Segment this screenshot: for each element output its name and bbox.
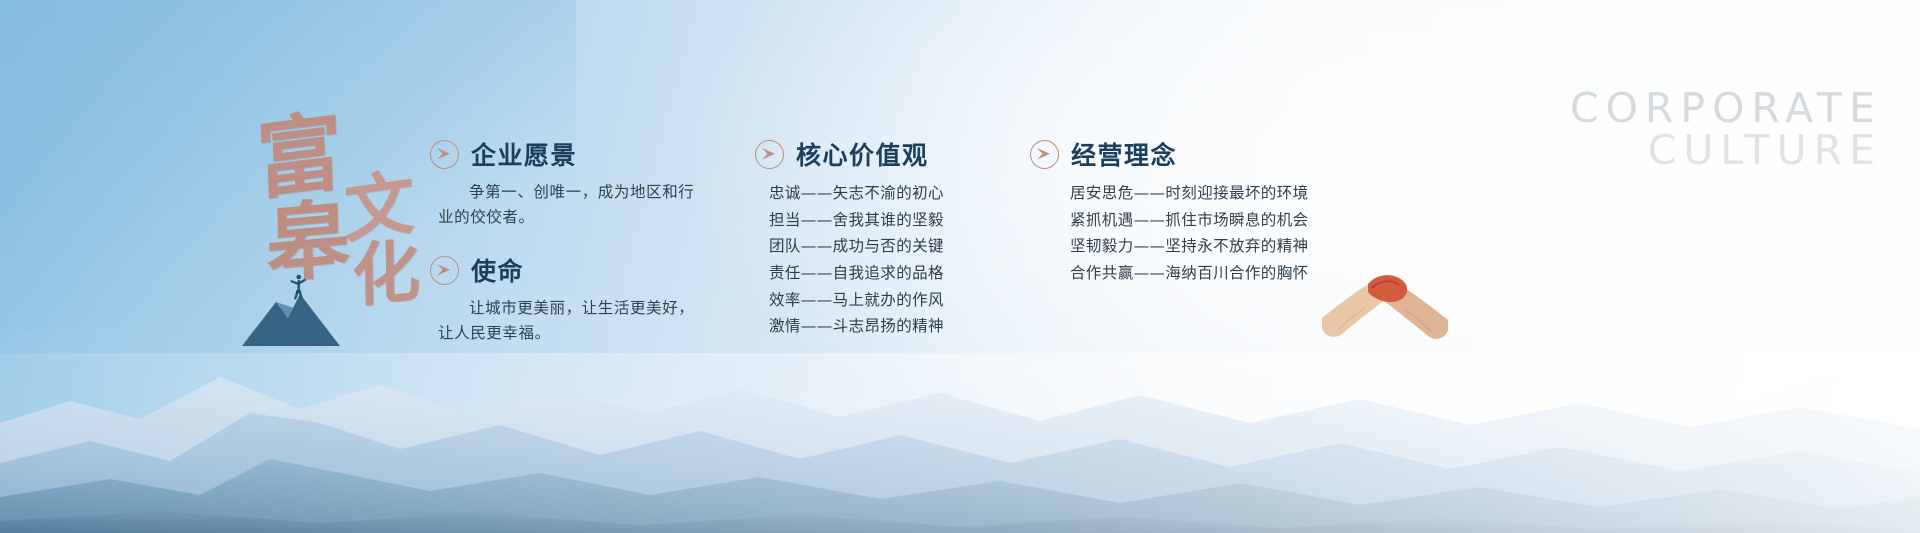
heading-core-values: 核心价值观 [755,136,1015,172]
column-core-values: 核心价值观 忠诚——矢志不渝的初心 担当——舍我其谁的坚毅 团队——成功与否的关… [755,136,1015,350]
corporate-culture-banner: CORPORATE CULTURE [0,0,1920,533]
list-item: 忠诚——矢志不渝的初心 [769,180,1015,207]
list-item: 担当——舍我其谁的坚毅 [769,207,1015,234]
heading-core-values-title: 核心价值观 [796,136,929,172]
calligraphy-char-wen: 文 [343,167,415,247]
list-item: 坚韧毅力——坚持永不放弃的精神 [1070,233,1350,260]
list-item: 激情——斗志昂扬的精神 [769,313,1015,340]
heading-mission-title: 使命 [471,252,524,288]
list-item: 居安思危——时刻迎接最坏的环境 [1070,180,1350,207]
watermark-line-1: CORPORATE [1570,88,1882,130]
business-philosophy-list: 居安思危——时刻迎接最坏的环境 紧抓机遇——抓住市场瞬息的机会 坚韧毅力——坚持… [1070,180,1350,287]
mission-paragraph: 让城市更美丽，让生活更美好，让人民更幸福。 [438,296,700,346]
core-values-list: 忠诚——矢志不渝的初心 担当——舍我其谁的坚毅 团队——成功与否的关键 责任——… [769,180,1015,340]
circle-arrow-right-icon [755,140,784,169]
list-item: 合作共赢——海纳百川合作的胸怀 [1070,260,1350,287]
list-item: 团队——成功与否的关键 [769,233,1015,260]
heading-business-philosophy: 经营理念 [1030,136,1350,172]
circle-arrow-right-icon [1030,140,1059,169]
vision-paragraph: 争第一、创唯一，成为地区和行业的佼佼者。 [438,180,700,230]
block-vision: 企业愿景 争第一、创唯一，成为地区和行业的佼佼者。 [430,136,730,230]
block-business-philosophy: 经营理念 居安思危——时刻迎接最坏的环境 紧抓机遇——抓住市场瞬息的机会 坚韧毅… [1030,136,1350,287]
heading-business-philosophy-title: 经营理念 [1071,136,1177,172]
heading-vision: 企业愿景 [430,136,730,172]
person-on-peak-silhouette [236,268,346,348]
list-item: 责任——自我追求的品格 [769,260,1015,287]
block-core-values: 核心价值观 忠诚——矢志不渝的初心 担当——舍我其谁的坚毅 团队——成功与否的关… [755,136,1015,340]
circle-arrow-right-icon [430,256,459,285]
heading-mission: 使命 [430,252,730,288]
watermark-corporate-culture: CORPORATE CULTURE [1570,88,1882,172]
heading-vision-title: 企业愿景 [471,136,577,172]
column-business-philosophy: 经营理念 居安思危——时刻迎接最坏的环境 紧抓机遇——抓住市场瞬息的机会 坚韧毅… [1030,136,1350,297]
watermark-line-2: CULTURE [1570,130,1882,172]
list-item: 效率——马上就办的作风 [769,287,1015,314]
calligraphy-char-fu: 富 [255,109,343,206]
column-vision-mission: 企业愿景 争第一、创唯一，成为地区和行业的佼佼者。 使命 让城市更美丽，让生活更… [430,136,730,356]
list-item: 紧抓机遇——抓住市场瞬息的机会 [1070,207,1350,234]
block-mission: 使命 让城市更美丽，让生活更美好，让人民更幸福。 [430,252,730,346]
circle-arrow-right-icon [430,140,459,169]
